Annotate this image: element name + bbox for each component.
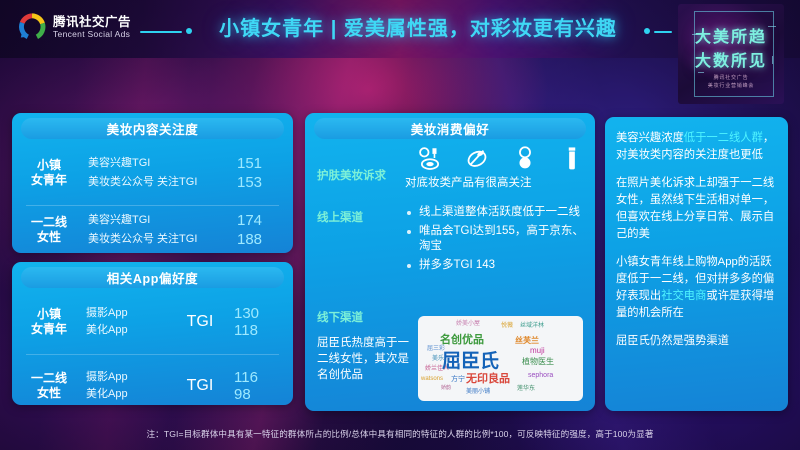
app-tier12-metric: TGI (172, 377, 228, 395)
wordcloud-term: 美乐 (432, 356, 444, 362)
wordcloud-term: 方宁 (451, 376, 465, 383)
wordcloud-term: 名创优品 (440, 335, 484, 346)
list-item: 唯品会TGI达到155，高于京东、淘宝 (405, 224, 587, 255)
app-town-values: 130 118 (228, 305, 293, 339)
wordcloud-term: 屈三彩 (427, 346, 445, 352)
panel-app-header: 相关App偏好度 (21, 267, 284, 288)
header-dot-right (644, 28, 650, 34)
wordcloud-term: 植物医生 (522, 358, 554, 366)
table-row: 美妆类公众号 关注TGI 188 (86, 232, 293, 247)
wordcloud-term: 莲华东 (517, 386, 535, 392)
insight-1-highlight: 低于一二线人群 (684, 132, 763, 144)
panel-app-title: 相关App偏好度 (107, 268, 199, 287)
header-rule-left (140, 31, 182, 33)
beauty-town-row0-value: 151 (237, 156, 293, 171)
section-label-online: 线上渠道 (317, 211, 401, 226)
beauty-group-town-label: 小镇 女青年 (12, 158, 86, 188)
panel-consumption-preference: 美妆消费偏好 护肤美妆诉求 (305, 113, 595, 411)
brand-logo: 腾讯社交广告 Tencent Social Ads (18, 13, 131, 41)
beauty-tier12-row1-name: 美妆类公众号 关注TGI (86, 232, 237, 247)
beauty-row-divider (26, 205, 279, 206)
skincare-note: 对底妆类产品有很高关注 (405, 176, 589, 191)
table-row: 美容兴趣TGI 174 (86, 213, 293, 228)
powder-puff-icon (464, 145, 490, 171)
logo-text-en: Tencent Social Ads (53, 30, 131, 39)
panel-beauty-header: 美妆内容关注度 (21, 118, 284, 139)
app-row-divider (26, 354, 279, 355)
insight-paragraph-2: 在照片美化诉求上却强于一二线女性，虽然线下生活相对单一，但喜欢在线上分享日常、展… (616, 175, 777, 243)
wordcloud-term: 娇兰佳人 (425, 366, 449, 372)
cosmetic-icons-row (417, 145, 585, 171)
panel-app-preference: 相关App偏好度 小镇 女青年 摄影App 美化App TGI 130 118 … (12, 262, 293, 405)
beauty-tier12-row1-value: 188 (237, 232, 293, 247)
logo-text-cn: 腾讯社交广告 (53, 16, 131, 29)
badge-title-line2: 大数所见 (678, 47, 784, 71)
beauty-tier12-row0-name: 美容兴趣TGI (86, 213, 237, 228)
wordcloud-term: 屈臣氏 (442, 352, 499, 371)
app-group-town-label: 小镇 女青年 (12, 307, 86, 337)
panel-insights: 美容兴趣浓度低于一二线人群，对美妆类内容的关注度也更低 在照片美化诉求上却强于一… (605, 117, 788, 411)
page-title: 小镇女青年 | 爱美属性强，对彩妆更有兴趣 (196, 13, 640, 45)
app-town-names: 摄影App 美化App (86, 305, 172, 339)
compact-mirror-icon (512, 145, 538, 171)
app-town-metric: TGI (172, 313, 228, 331)
beauty-tier12-row0-value: 174 (237, 213, 293, 228)
panel-consumption-header: 美妆消费偏好 (314, 118, 586, 139)
beauty-group-town: 小镇 女青年 美容兴趣TGI 151 美妆类公众号 关注TGI 153 (12, 147, 293, 199)
wordcloud-term: sephora (528, 372, 553, 379)
wordcloud-term: 丝域洋林 (520, 323, 544, 329)
table-row: 美容兴趣TGI 151 (86, 156, 293, 171)
header-rule-right (654, 31, 672, 33)
insight-1-pre: 美容兴趣浓度 (616, 132, 684, 144)
beauty-group-tier12: 一二线 女性 美容兴趣TGI 174 美妆类公众号 关注TGI 188 (12, 209, 293, 251)
panel-consumption-title: 美妆消费偏好 (411, 119, 490, 138)
app-tier12-values: 116 98 (228, 369, 293, 403)
app-tier12-names: 摄影App 美化App (86, 369, 172, 403)
footnote-tgi-definition: 注：TGI=目标群体中具有某一特征的群体所占的比例/总体中具有相同的特征的人群的… (0, 428, 800, 440)
tencent-ring-icon (18, 13, 46, 41)
insight-paragraph-4: 屈臣氏仍然是强势渠道 (616, 333, 777, 350)
wordcloud-term: 娇美小屋 (456, 321, 480, 327)
wordcloud-term: 美丽小铺 (466, 389, 490, 395)
wordcloud-term: 悦薇 (501, 323, 513, 329)
section-label-offline: 线下渠道 (317, 311, 401, 326)
section-label-skincare: 护肤美妆诉求 (317, 169, 401, 184)
list-item: 线上渠道整体活跃度低于一二线 (405, 205, 587, 221)
app-group-tier12-label: 一二线 女性 (12, 371, 86, 401)
wordcloud-term: muji (530, 347, 545, 355)
table-row: 美妆类公众号 关注TGI 153 (86, 175, 293, 190)
list-item: 拼多多TGI 143 (405, 258, 587, 274)
insight-paragraph-1: 美容兴趣浓度低于一二线人群，对美妆类内容的关注度也更低 (616, 130, 777, 164)
event-badge: 大美所趋 大数所见 腾讯社交广告 美妆行业营销峰会 (678, 4, 784, 104)
insight-3-highlight: 社交电商 (661, 290, 706, 302)
panel-beauty-title: 美妆内容关注度 (107, 119, 199, 138)
beauty-town-row1-value: 153 (237, 175, 293, 190)
beauty-group-tier12-label: 一二线 女性 (12, 215, 86, 245)
beauty-town-row1-name: 美妆类公众号 关注TGI (86, 175, 237, 190)
cosmetic-tube-icon (559, 145, 585, 171)
infographic-slide: 腾讯社交广告 Tencent Social Ads 小镇女青年 | 爱美属性强，… (0, 0, 800, 450)
badge-title-line1: 大美所趋 (678, 23, 784, 47)
app-group-town: 小镇 女青年 摄影App 美化App TGI 130 118 (12, 296, 293, 348)
wordcloud-term: 娇韵 (441, 386, 451, 391)
online-bullet-list: 线上渠道整体活跃度低于一二线 唯品会TGI达到155，高于京东、淘宝 拼多多TG… (405, 205, 587, 276)
app-group-tier12: 一二线 女性 摄影App 美化App TGI 116 98 (12, 360, 293, 405)
header-dot-left (186, 28, 192, 34)
wordcloud-term: 丝芙兰 (515, 337, 539, 345)
offline-description: 屈臣氏热度高于一二线女性，其次是名创优品 (317, 335, 413, 383)
badge-subtitle: 腾讯社交广告 美妆行业营销峰会 (678, 74, 784, 90)
insight-4-pre: 屈臣氏仍然是强势渠道 (616, 335, 729, 347)
wordcloud-term: 无印良品 (466, 374, 510, 385)
brand-wordcloud: 屈臣氏名创优品无印良品丝芙兰植物医生mujisephora娇兰佳人watsons… (418, 316, 583, 401)
compact-brush-icon (417, 145, 443, 171)
panel-beauty-content: 美妆内容关注度 小镇 女青年 美容兴趣TGI 151 美妆类公众号 关注TGI … (12, 113, 293, 253)
insight-2-pre: 在照片美化诉求上却强于一二线女性，虽然线下生活相对单一，但喜欢在线上分享日常、展… (616, 177, 774, 240)
wordcloud-term: watsons (421, 376, 443, 382)
beauty-town-row0-name: 美容兴趣TGI (86, 156, 237, 171)
insight-paragraph-3: 小镇女青年线上购物App的活跃度低于一二线，但对拼多多的偏好表现出社交电商或许是… (616, 254, 777, 322)
